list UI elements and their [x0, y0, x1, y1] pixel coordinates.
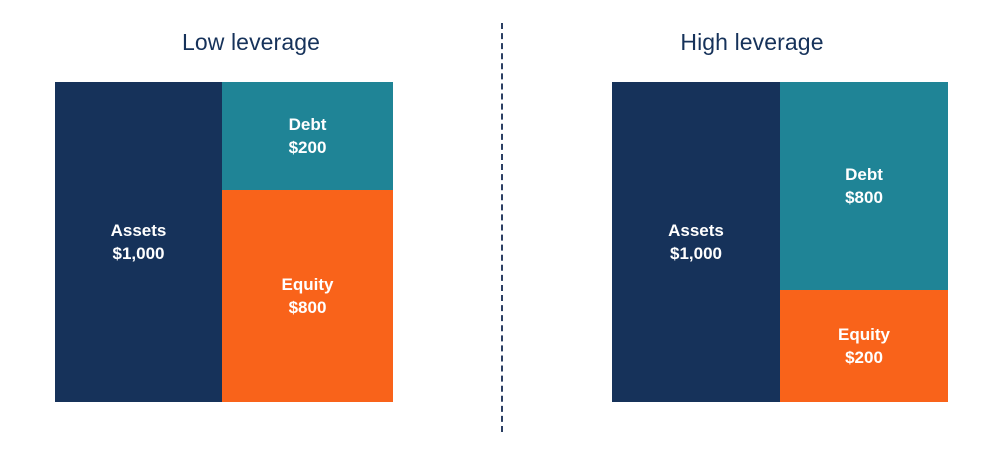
equity-label-low: Equity [282, 273, 334, 296]
diagram-canvas: Low leverage Assets $1,000 Debt $200 Equ… [0, 0, 1002, 454]
debt-value-low: $200 [289, 136, 327, 159]
panel-title-low-leverage: Low leverage [0, 28, 502, 56]
debt-label-high: Debt [845, 163, 883, 186]
assets-value-low: $1,000 [111, 242, 167, 265]
equity-value-high: $200 [845, 346, 883, 369]
debt-label-low: Debt [289, 113, 327, 136]
liabilities-equity-column-high: Debt $800 Equity $200 [780, 82, 948, 402]
panel-high-leverage: High leverage Assets $1,000 Debt $800 Eq… [502, 0, 1002, 454]
equity-block-low: Equity $800 [222, 190, 393, 402]
assets-block-low: Assets $1,000 [55, 82, 222, 402]
balance-sheet-low-leverage: Assets $1,000 Debt $200 Equity $800 [55, 82, 393, 402]
equity-value-low: $800 [289, 296, 327, 319]
debt-block-high: Debt $800 [780, 82, 948, 290]
panel-low-leverage: Low leverage Assets $1,000 Debt $200 Equ… [0, 0, 502, 454]
balance-sheet-high-leverage: Assets $1,000 Debt $800 Equity $200 [612, 82, 948, 402]
debt-block-low: Debt $200 [222, 82, 393, 190]
assets-label-low: Assets [111, 219, 167, 242]
assets-value-high: $1,000 [668, 242, 724, 265]
equity-block-high: Equity $200 [780, 290, 948, 402]
panel-title-high-leverage: High leverage [502, 28, 1002, 56]
liabilities-equity-column-low: Debt $200 Equity $800 [222, 82, 393, 402]
assets-block-high: Assets $1,000 [612, 82, 780, 402]
assets-label-high: Assets [668, 219, 724, 242]
equity-label-high: Equity [838, 323, 890, 346]
debt-value-high: $800 [845, 186, 883, 209]
